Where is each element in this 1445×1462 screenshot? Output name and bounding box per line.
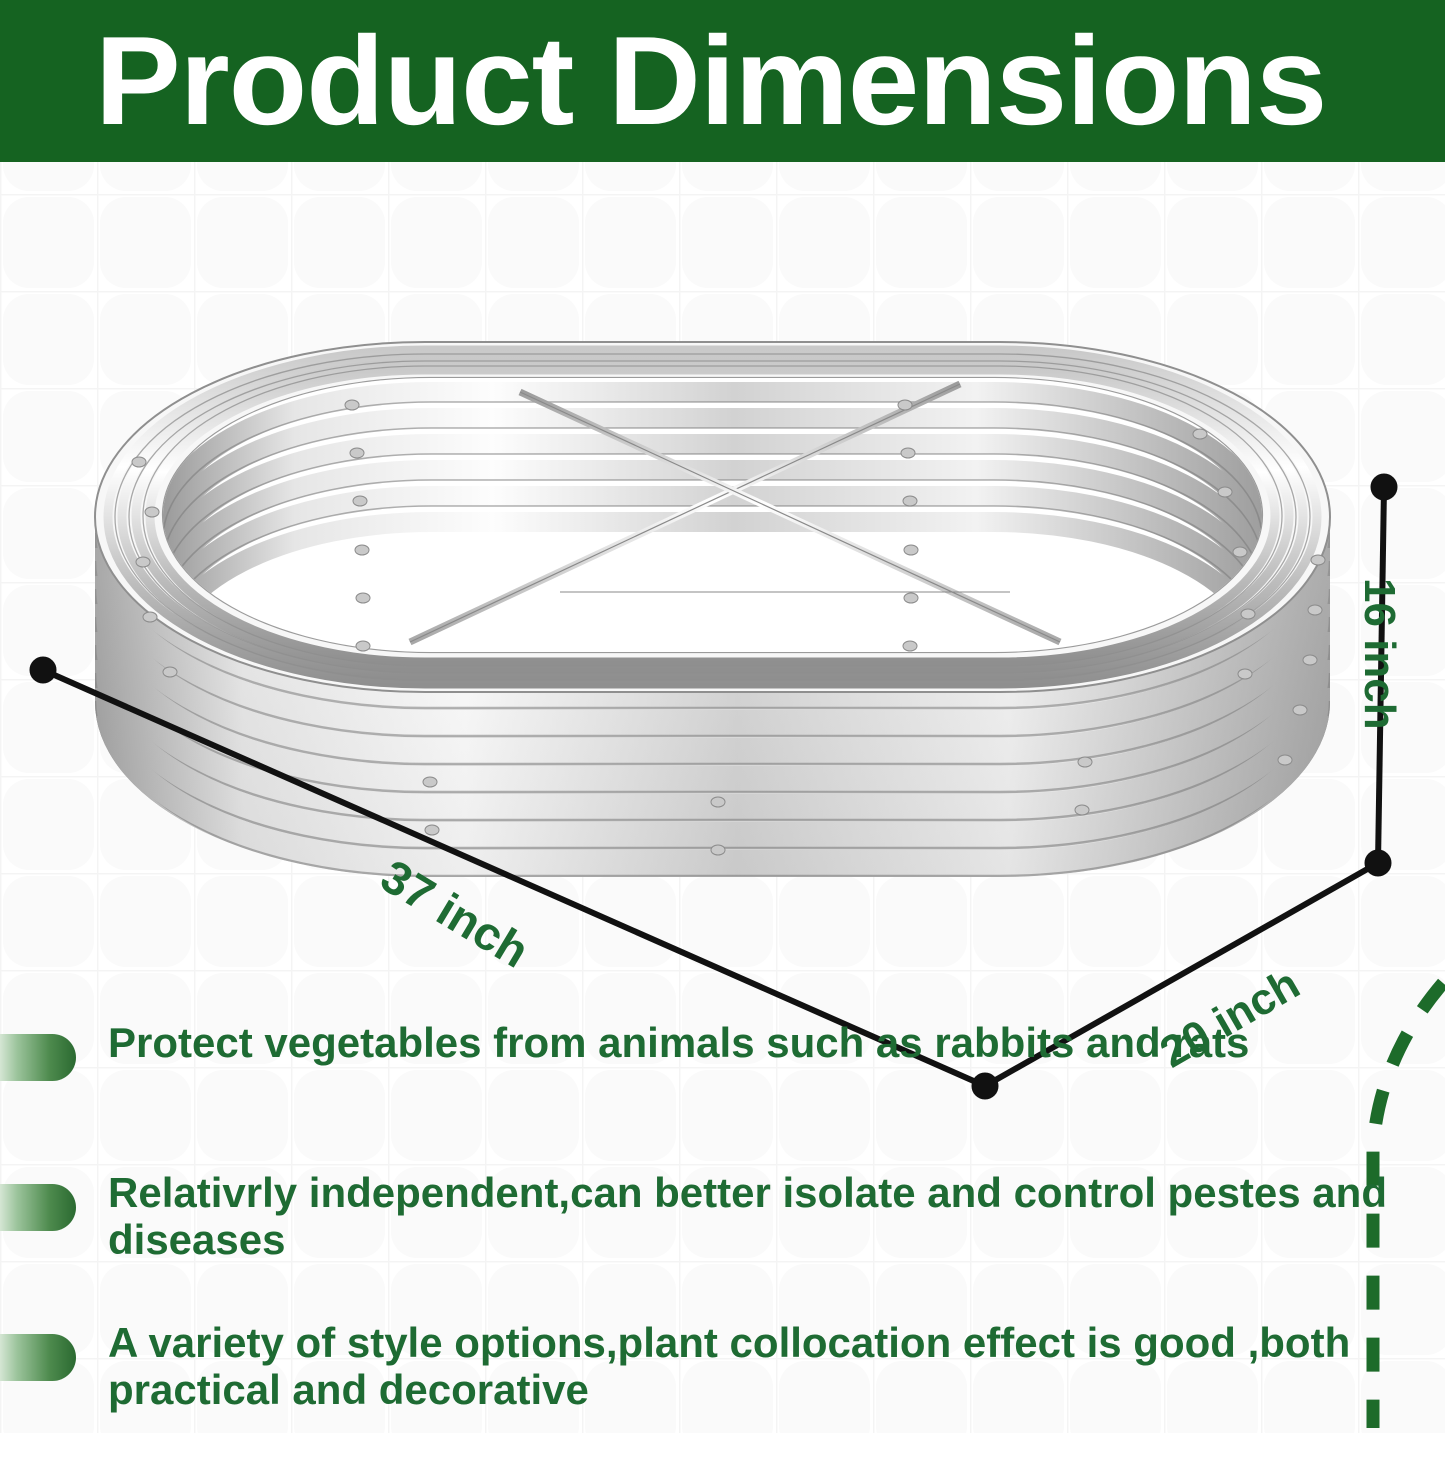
dimension-endpoint-top — [1371, 474, 1397, 500]
feature-item: Relativrly independent,can better isolat… — [0, 1162, 1445, 1312]
page-title: Product Dimensions — [95, 14, 1411, 148]
bullet-pill-icon — [0, 1184, 76, 1231]
feature-text: Relativrly independent,can better isolat… — [108, 1169, 1408, 1263]
product-illustration — [0, 162, 1445, 1122]
dimension-endpoint-left — [30, 657, 56, 683]
feature-item: Protect vegetables from animals such as … — [0, 1012, 1445, 1162]
feature-item: A variety of style options,plant colloca… — [0, 1312, 1445, 1462]
dimension-junction-right — [1365, 850, 1391, 876]
dimension-label-height: 16 inch — [1354, 578, 1404, 730]
feature-list: Protect vegetables from animals such as … — [0, 1012, 1445, 1462]
feature-text: A variety of style options,plant colloca… — [108, 1319, 1408, 1413]
bullet-pill-icon — [0, 1334, 76, 1381]
feature-text: Protect vegetables from animals such as … — [108, 1019, 1408, 1066]
bullet-pill-icon — [0, 1034, 76, 1081]
header-banner: Product Dimensions — [0, 0, 1445, 162]
